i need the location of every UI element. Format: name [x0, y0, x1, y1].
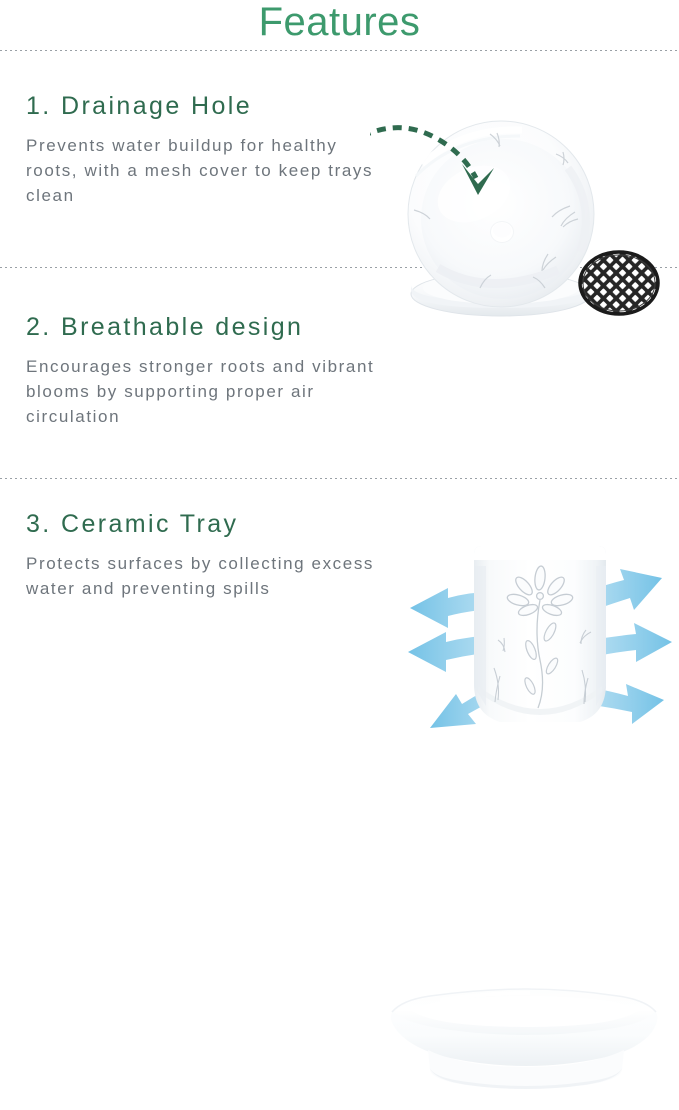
- feature-section-breathable-design: 2. Breathable design Encourages stronger…: [0, 268, 679, 478]
- feature-text-block: 2. Breathable design Encourages stronger…: [26, 312, 386, 429]
- feature-text-block: 3. Ceramic Tray Protects surfaces by col…: [26, 509, 386, 601]
- feature-section-drainage-hole: 1. Drainage Hole Prevents water buildup …: [0, 51, 679, 267]
- feature-description: Encourages stronger roots and vibrant bl…: [26, 354, 386, 429]
- feature-text-block: 1. Drainage Hole Prevents water buildup …: [26, 91, 386, 208]
- feature-description: Protects surfaces by collecting excess w…: [26, 551, 386, 601]
- feature-heading: 1. Drainage Hole: [26, 91, 386, 121]
- ceramic-tray-illustration: [370, 958, 679, 1110]
- drainage-hole: [490, 221, 514, 243]
- feature-description: Prevents water buildup for healthy roots…: [26, 133, 386, 208]
- ceramic-saucer-side-view: [391, 989, 657, 1089]
- feature-section-ceramic-tray: 3. Ceramic Tray Protects surfaces by col…: [0, 479, 679, 631]
- page-title: Features: [0, 0, 679, 46]
- feature-heading: 2. Breathable design: [26, 312, 386, 342]
- feature-heading: 3. Ceramic Tray: [26, 509, 386, 539]
